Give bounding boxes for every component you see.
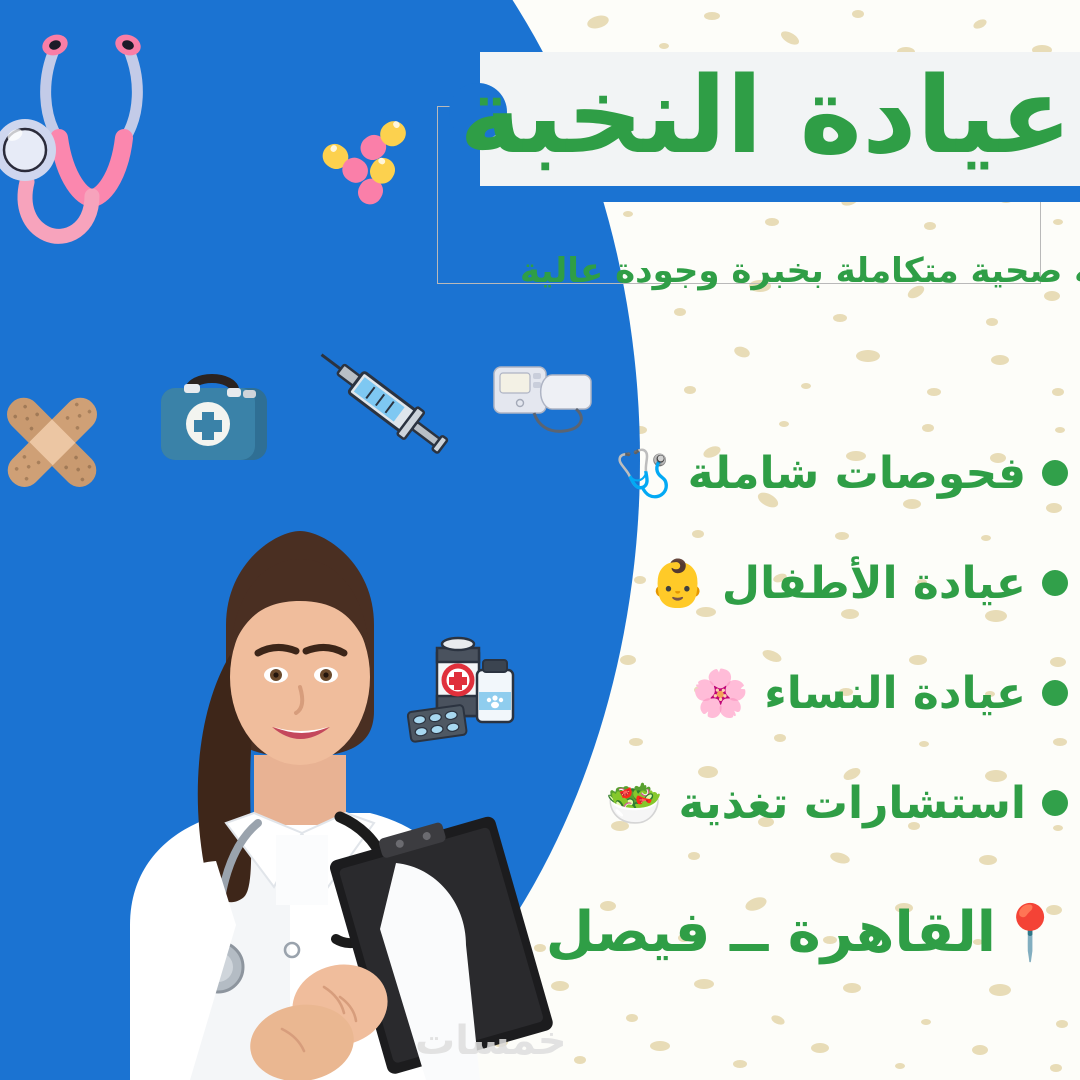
title-underline-bar	[495, 186, 1080, 202]
list-item[interactable]: فحوصات شاملة 🩺	[628, 430, 1068, 516]
list-item[interactable]: استشارات تغذية 🥗	[628, 760, 1068, 846]
syringe-illustration	[320, 345, 460, 475]
adhesive-bandages-illustration	[0, 385, 112, 500]
capsule-pills-illustration	[322, 110, 422, 210]
service-label: عيادة الأطفال	[722, 558, 1026, 609]
bullet-dot-icon	[1042, 680, 1068, 706]
first-aid-bag-illustration	[145, 358, 280, 488]
stethoscope-illustration	[0, 20, 205, 290]
bullet-dot-icon	[1042, 460, 1068, 486]
list-item[interactable]: عيادة الأطفال 👶	[628, 540, 1068, 626]
service-label: عيادة النساء	[764, 668, 1026, 719]
services-list: فحوصات شاملة 🩺 عيادة الأطفال 👶 عيادة الن…	[628, 430, 1068, 846]
map-pin-icon: 📍	[1010, 906, 1064, 960]
blood-pressure-monitor-illustration	[490, 355, 600, 445]
subtitle: رعاية صحية متكاملة بخبرة وجودة عالية	[520, 236, 1074, 306]
salad-icon: 🥗	[606, 775, 662, 831]
list-item[interactable]: عيادة النساء 🌸	[628, 650, 1068, 736]
stethoscope-icon: 🩺	[616, 445, 672, 501]
page-title: عيادة النخبة	[500, 46, 1072, 186]
location-block[interactable]: 📍 القاهرة ــ فيصل	[594, 900, 1064, 965]
service-label: استشارات تغذية	[678, 778, 1026, 829]
service-label: فحوصات شاملة	[688, 448, 1026, 499]
blossom-icon: 🌸	[692, 665, 748, 721]
location-text: القاهرة ــ فيصل	[546, 900, 996, 965]
doctor-photo	[40, 505, 560, 1080]
bullet-dot-icon	[1042, 790, 1068, 816]
baby-icon: 👶	[650, 555, 706, 611]
watermark: خمسات	[415, 1018, 567, 1064]
clinic-poster: عيادة النخبة رعاية صحية متكاملة بخبرة وج…	[0, 0, 1080, 1080]
bullet-dot-icon	[1042, 570, 1068, 596]
